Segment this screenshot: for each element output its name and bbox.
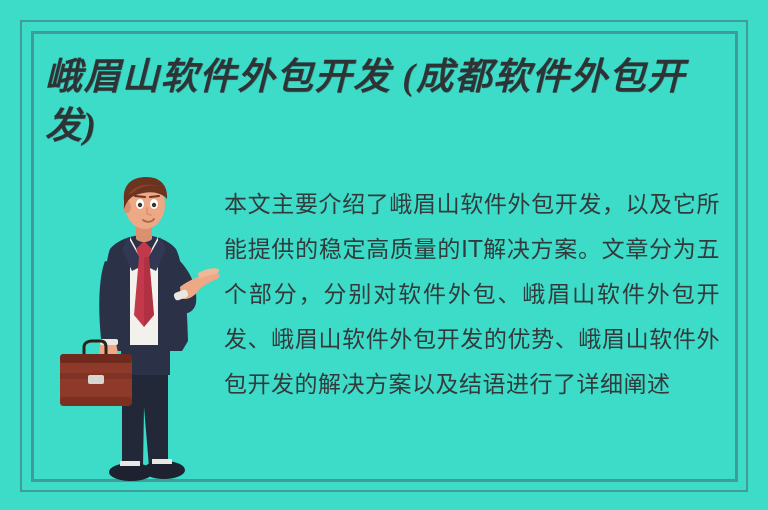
poster-canvas: 峨眉山软件外包开发 (成都软件外包开发): [0, 0, 768, 510]
body-paragraph: 本文主要介绍了峨眉山软件外包开发，以及它所能提供的稳定高质量的IT解决方案。文章…: [224, 183, 720, 408]
businessman-illustration: [48, 175, 228, 485]
briefcase-clasp-shape: [88, 375, 104, 384]
page-title: 峨眉山软件外包开发 (成都软件外包开发): [45, 53, 735, 151]
